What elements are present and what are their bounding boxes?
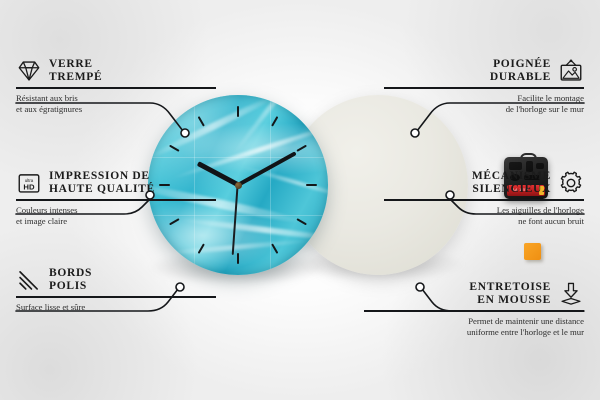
callout-desc-line1: Facilite le montage xyxy=(384,93,584,104)
callout-divider xyxy=(384,87,584,89)
infographic-canvas: AA 1.5V xyxy=(0,0,600,400)
foam-spacer-icon xyxy=(558,281,584,307)
callout-entretoise-en-mousse[interactable]: ENTRETOISE EN MOUSSE Permet de maintenir… xyxy=(364,281,584,338)
callout-desc-line1: Couleurs intenses xyxy=(16,205,216,216)
callout-title-line2: EN MOUSSE xyxy=(469,294,551,307)
callout-title-line1: BORDS xyxy=(49,267,92,280)
callout-desc-line2: de l'horloge sur le mur xyxy=(384,104,584,115)
callout-title-line1: POIGNÉE xyxy=(490,58,551,71)
callout-bords-polis[interactable]: BORDS POLIS Surface lisse et sûre xyxy=(16,267,216,313)
callout-divider xyxy=(16,296,216,298)
callout-desc-line2: et image claire xyxy=(16,216,216,227)
callout-title-line1: ENTRETOISE xyxy=(469,281,551,294)
callout-divider xyxy=(384,199,584,201)
callout-title-line2: POLIS xyxy=(49,280,92,293)
callout-desc-line1: Surface lisse et sûre xyxy=(16,302,216,313)
foam-spacer-pad xyxy=(524,243,541,260)
callout-title-line1: VERRE xyxy=(49,58,102,71)
callout-desc-line2: ne font aucun bruit xyxy=(384,216,584,227)
callout-desc-line1: Les aiguilles de l'horloge xyxy=(384,205,584,216)
picture-frame-hanging-icon xyxy=(558,58,584,84)
svg-text:HD: HD xyxy=(23,183,35,192)
callout-title-line2: DURABLE xyxy=(490,71,551,84)
callout-title-line2: TREMPÉ xyxy=(49,71,102,84)
callout-divider xyxy=(16,87,216,89)
callout-desc-line1: Résistant aux bris xyxy=(16,93,216,104)
callout-impression-haute-qualite[interactable]: ultra HD IMPRESSION DE HAUTE QUALITÉ Cou… xyxy=(16,170,216,227)
callout-divider xyxy=(16,199,216,201)
diamond-icon xyxy=(16,58,42,84)
callout-desc-line2: et aux égratignures xyxy=(16,104,216,115)
callout-desc-line1: Permet de maintenir une distance xyxy=(364,316,584,327)
ultra-hd-icon: ultra HD xyxy=(16,170,42,196)
callout-verre-trempe[interactable]: VERRE TREMPÉ Résistant aux bris et aux é… xyxy=(16,58,216,115)
callout-title-line1: IMPRESSION DE xyxy=(49,170,155,183)
callout-mecanisme-silencieux[interactable]: MÉCANISME SILENCIEUX Les aiguilles de l'… xyxy=(384,170,584,227)
polished-edges-icon xyxy=(16,267,42,293)
gear-icon xyxy=(558,170,584,196)
callout-title-line2: SILENCIEUX xyxy=(472,183,551,196)
callout-title-line2: HAUTE QUALITÉ xyxy=(49,183,155,196)
callout-poignee-durable[interactable]: POIGNÉE DURABLE Facilite le montage de l… xyxy=(384,58,584,115)
callout-divider xyxy=(364,310,584,312)
callout-desc-line2: uniforme entre l'horloge et le mur xyxy=(364,327,584,338)
callout-title-line1: MÉCANISME xyxy=(472,170,551,183)
